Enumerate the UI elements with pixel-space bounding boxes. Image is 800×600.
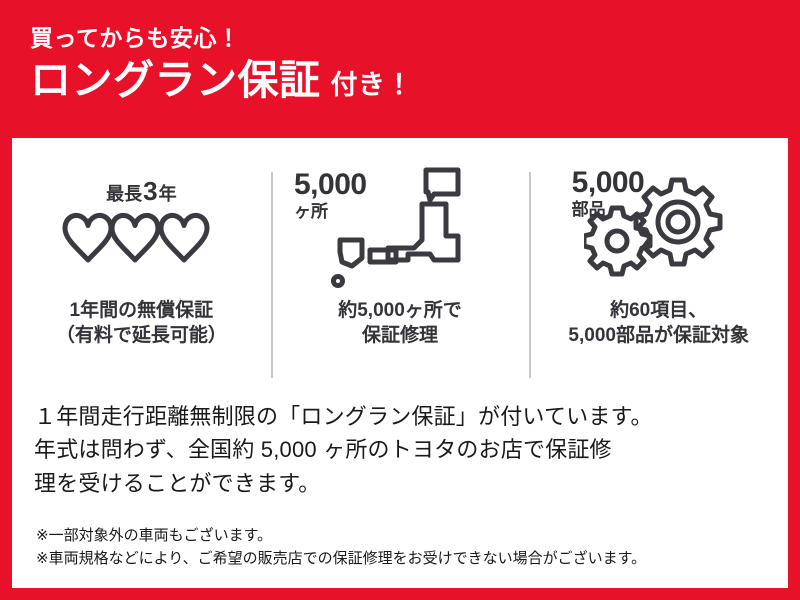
body-line-1: １年間走行距離無制限の「ロングラン保証」が付いています。 — [34, 400, 774, 433]
warranty-term-badge: 最長 3 年 — [106, 178, 176, 204]
feature-icon-area: 5,000 部品 — [584, 164, 734, 292]
badge-number: 5,000 — [294, 170, 367, 200]
badge-unit: 部品 — [572, 201, 645, 218]
caption-line-1: 約60項目、 — [568, 298, 749, 323]
caption-line-1: 約5,000ヶ所で — [338, 298, 462, 323]
content-panel: 最長 3 年 1年間の無償 — [12, 138, 788, 588]
feature-caption: 約5,000ヶ所で 保証修理 — [338, 298, 462, 348]
header-banner: 買ってからも安心！ ロングラン保証 付き！ — [0, 0, 800, 138]
footnotes: ※一部対象外の車両もございます。 ※車両規格などにより、ご希望の販売店での保証修… — [36, 524, 780, 571]
badge-unit: ヶ所 — [294, 203, 367, 220]
three-hearts-icon — [56, 208, 226, 278]
header-title-main: ロングラン保証 — [30, 60, 321, 101]
feature-warranty-term: 最長 3 年 1年間の無償 — [12, 138, 271, 386]
gears-icon: 5,000 部品 — [584, 168, 734, 288]
caption-line-1: 1年間の無償保証 — [56, 298, 227, 323]
feature-caption: 1年間の無償保証 （有料で延長可能） — [56, 298, 227, 348]
caption-line-2: 保証修理 — [338, 323, 462, 348]
badge-prefix: 最長 — [106, 185, 142, 203]
header-kicker: 買ってからも安心！ — [30, 26, 800, 51]
feature-service-locations: 5,000 ヶ所 約5,000ヶ所で 保証修理 — [271, 138, 530, 386]
body-line-2: 年式は問わず、全国約 5,000 ヶ所のトヨタのお店で保証修 — [34, 433, 774, 466]
badge-number: 5,000 — [572, 168, 645, 198]
feature-caption: 約60項目、 5,000部品が保証対象 — [568, 298, 749, 348]
covered-parts-badge: 5,000 部品 — [572, 168, 645, 218]
caption-line-2: （有料で延長可能） — [56, 323, 227, 348]
footnote-line-2: ※車両規格などにより、ご希望の販売店での保証修理をお受けできない場合がございます… — [36, 547, 780, 570]
header-title-suffix: 付き！ — [331, 72, 414, 99]
caption-line-2: 5,000部品が保証対象 — [568, 323, 749, 348]
body-line-3: 理を受けることができます。 — [34, 467, 774, 500]
japan-map-icon: 5,000 ヶ所 — [330, 164, 470, 292]
feature-icon-area: 最長 3 年 — [56, 164, 226, 292]
header-title: ロングラン保証 付き！ — [30, 60, 800, 101]
service-locations-badge: 5,000 ヶ所 — [294, 170, 367, 220]
warranty-poster: 買ってからも安心！ ロングラン保証 付き！ 最長 3 年 — [0, 0, 800, 600]
feature-columns: 最長 3 年 1年間の無償 — [12, 138, 788, 386]
badge-number: 3 — [143, 178, 157, 204]
feature-covered-parts: 5,000 部品 約60項目、 5,000部品が保証対象 — [529, 138, 788, 386]
feature-icon-area: 5,000 ヶ所 — [330, 164, 470, 292]
badge-suffix: 年 — [159, 185, 177, 203]
footnote-line-1: ※一部対象外の車両もございます。 — [36, 524, 780, 547]
body-paragraph: １年間走行距離無制限の「ロングラン保証」が付いています。 年式は問わず、全国約 … — [34, 400, 774, 500]
